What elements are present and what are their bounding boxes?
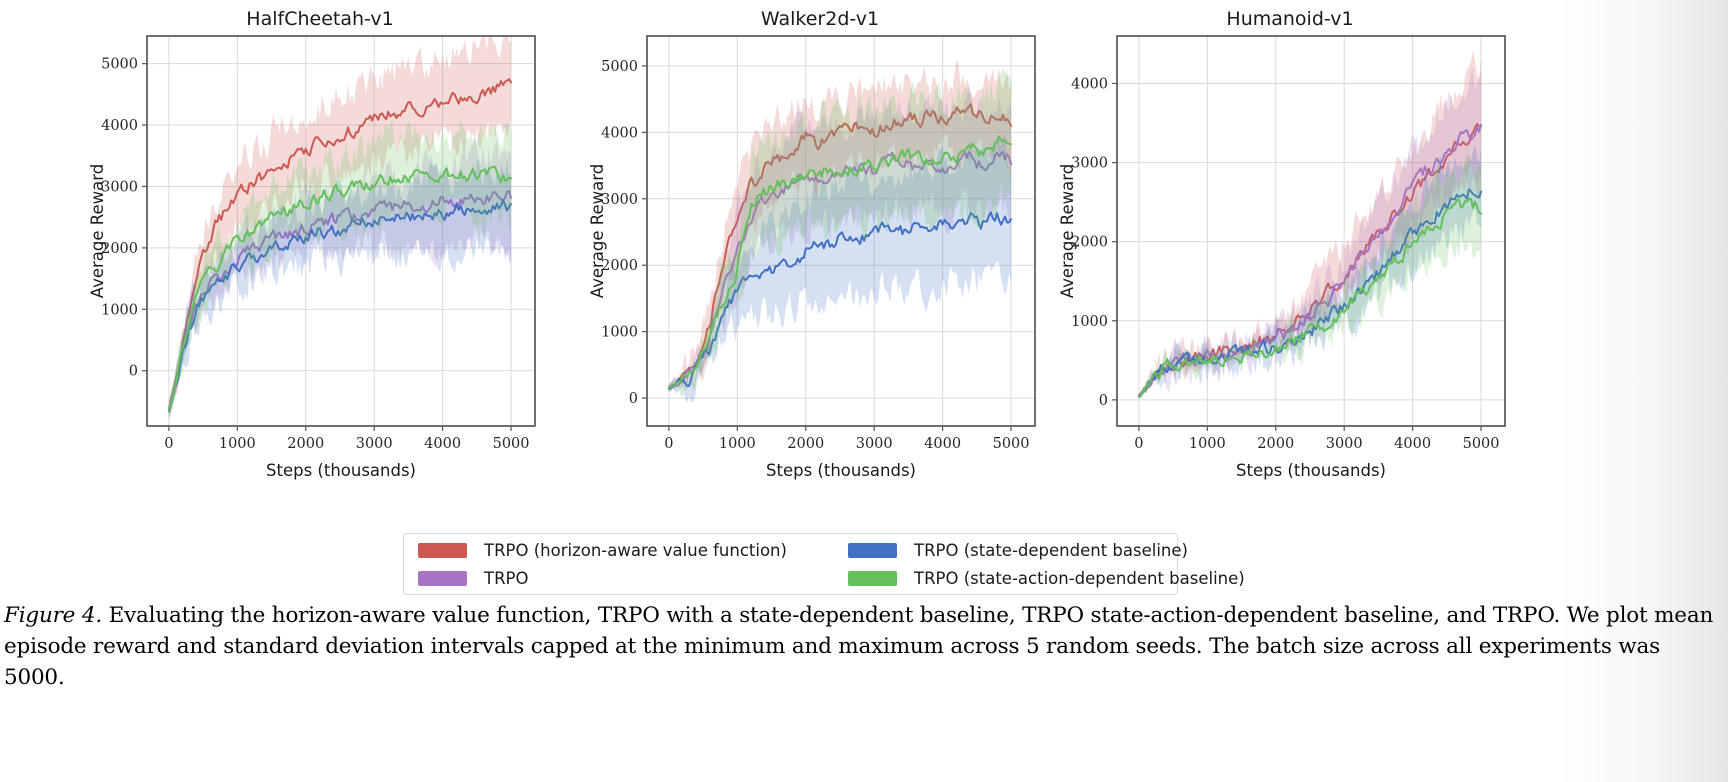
svg-text:Average Reward: Average Reward bbox=[588, 164, 607, 298]
svg-text:1000: 1000 bbox=[219, 436, 256, 452]
svg-text:Steps (thousands): Steps (thousands) bbox=[266, 461, 416, 480]
svg-text:2000: 2000 bbox=[287, 436, 324, 452]
svg-text:0: 0 bbox=[1134, 436, 1143, 452]
figure-caption-label: Figure 4. bbox=[4, 603, 102, 628]
svg-text:3000: 3000 bbox=[356, 436, 393, 452]
legend-label: TRPO (horizon-aware value function) bbox=[484, 541, 787, 560]
chart-panel-halfcheetah: HalfCheetah-v1 0100020003000400050000100… bbox=[85, 0, 555, 490]
legend-item-state-dependent[interactable]: TRPO (state-dependent baseline) bbox=[834, 541, 1179, 560]
svg-text:2000: 2000 bbox=[787, 436, 824, 452]
legend-label: TRPO bbox=[484, 569, 528, 588]
svg-text:Average Reward: Average Reward bbox=[88, 164, 107, 298]
plot-svg-walker2d: 0100020003000400050000100020003000400050… bbox=[585, 0, 1055, 490]
legend-swatch-icon bbox=[418, 571, 467, 586]
svg-text:5000: 5000 bbox=[101, 57, 138, 73]
svg-text:2000: 2000 bbox=[1257, 436, 1294, 452]
svg-text:1000: 1000 bbox=[1071, 314, 1108, 330]
svg-text:Steps (thousands): Steps (thousands) bbox=[1236, 461, 1386, 480]
svg-text:5000: 5000 bbox=[993, 436, 1030, 452]
svg-text:5000: 5000 bbox=[1463, 436, 1500, 452]
svg-text:4000: 4000 bbox=[101, 118, 138, 134]
chart-panel-walker2d: Walker2d-v1 0100020003000400050000100020… bbox=[585, 0, 1055, 490]
svg-text:5000: 5000 bbox=[493, 436, 530, 452]
svg-text:1000: 1000 bbox=[1189, 436, 1226, 452]
svg-text:3000: 3000 bbox=[1326, 436, 1363, 452]
chart-panel-humanoid: Humanoid-v1 0100020003000400001000200030… bbox=[1055, 0, 1525, 490]
svg-text:1000: 1000 bbox=[601, 325, 638, 341]
svg-text:0: 0 bbox=[664, 436, 673, 452]
legend-swatch-icon bbox=[848, 543, 897, 558]
svg-text:0: 0 bbox=[164, 436, 173, 452]
figure-caption: Figure 4. Evaluating the horizon-aware v… bbox=[4, 600, 1718, 693]
svg-text:0: 0 bbox=[129, 364, 138, 380]
svg-text:1000: 1000 bbox=[719, 436, 756, 452]
chart-panel-group: HalfCheetah-v1 0100020003000400050000100… bbox=[0, 0, 1560, 490]
svg-text:4000: 4000 bbox=[1394, 436, 1431, 452]
panel-title: HalfCheetah-v1 bbox=[85, 8, 555, 30]
panel-title: Humanoid-v1 bbox=[1055, 8, 1525, 30]
legend-swatch-icon bbox=[848, 571, 897, 586]
svg-text:1000: 1000 bbox=[101, 302, 138, 318]
legend-item-horizon-aware[interactable]: TRPO (horizon-aware value function) bbox=[404, 541, 834, 560]
svg-text:Steps (thousands): Steps (thousands) bbox=[766, 461, 916, 480]
svg-text:4000: 4000 bbox=[601, 125, 638, 141]
legend-label: TRPO (state-dependent baseline) bbox=[914, 541, 1188, 560]
panel-title: Walker2d-v1 bbox=[585, 8, 1055, 30]
svg-text:4000: 4000 bbox=[424, 436, 461, 452]
legend-label: TRPO (state-action-dependent baseline) bbox=[914, 569, 1245, 588]
legend-item-state-action-dependent[interactable]: TRPO (state-action-dependent baseline) bbox=[834, 569, 1179, 588]
figure-4: HalfCheetah-v1 0100020003000400050000100… bbox=[0, 0, 1728, 600]
figure-caption-text: Evaluating the horizon-aware value funct… bbox=[4, 603, 1713, 690]
plot-svg-halfcheetah: 0100020003000400050000100020003000400050… bbox=[85, 0, 555, 490]
svg-text:Average Reward: Average Reward bbox=[1058, 164, 1077, 298]
legend-swatch-icon bbox=[418, 543, 467, 558]
legend-item-trpo[interactable]: TRPO bbox=[404, 569, 834, 588]
svg-text:0: 0 bbox=[629, 391, 638, 407]
svg-text:3000: 3000 bbox=[856, 436, 893, 452]
chart-legend: TRPO (horizon-aware value function) TRPO… bbox=[403, 533, 1178, 595]
svg-text:0: 0 bbox=[1099, 393, 1108, 409]
svg-text:5000: 5000 bbox=[601, 59, 638, 75]
plot-svg-humanoid: 01000200030004000010002000300040005000St… bbox=[1055, 0, 1525, 490]
svg-text:4000: 4000 bbox=[924, 436, 961, 452]
svg-text:4000: 4000 bbox=[1071, 76, 1108, 92]
